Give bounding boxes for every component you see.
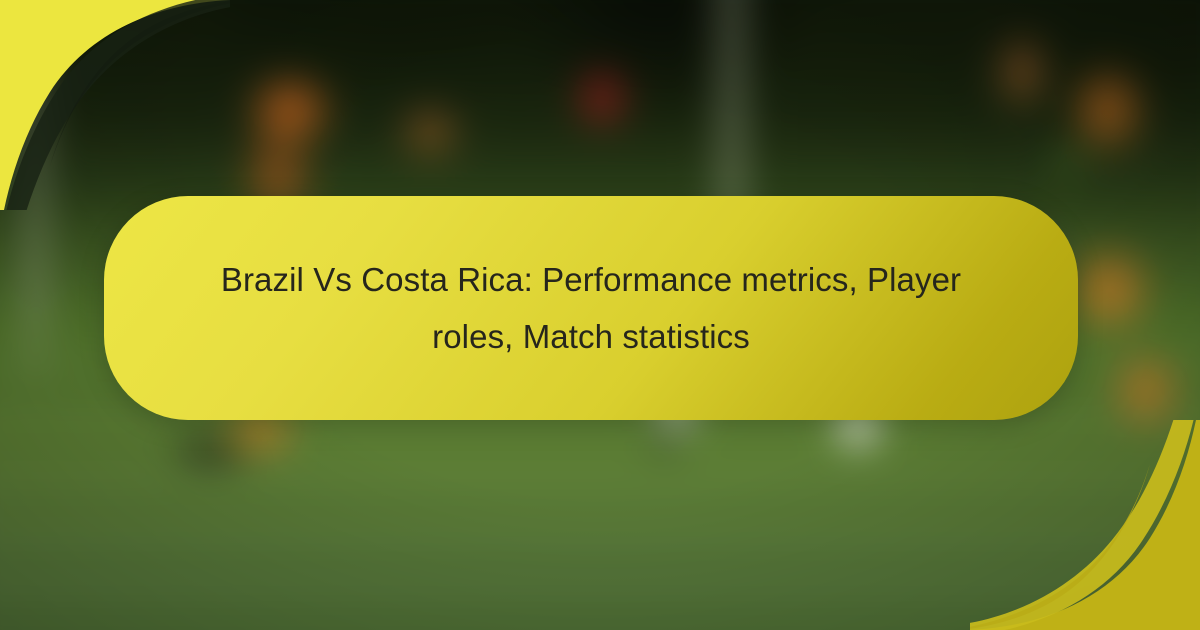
swoosh-bottom-right-icon <box>970 420 1200 630</box>
swoosh-top-left-icon <box>0 0 230 210</box>
page-title: Brazil Vs Costa Rica: Performance metric… <box>211 251 971 365</box>
title-card: Brazil Vs Costa Rica: Performance metric… <box>104 196 1078 420</box>
social-card-canvas: Brazil Vs Costa Rica: Performance metric… <box>0 0 1200 630</box>
